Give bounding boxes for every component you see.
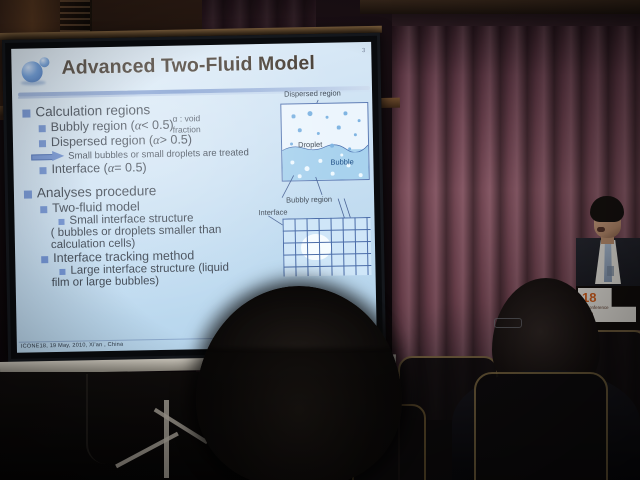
ceiling-valance	[360, 0, 640, 14]
bubble-dot	[304, 166, 309, 171]
slide-body: Calculation regions Bubbly region ( α < …	[22, 100, 266, 290]
grid-line-v	[294, 218, 296, 276]
droplet-dot	[343, 111, 347, 115]
droplet-dot	[348, 147, 351, 150]
droplet-dot	[354, 133, 357, 136]
droplet-dot	[290, 142, 293, 145]
slide-number: 3	[362, 48, 365, 54]
bullet-square-icon	[39, 125, 46, 132]
bubble-dot	[318, 159, 322, 163]
note-line-1: α : void	[172, 113, 200, 125]
grid-line-v	[354, 217, 356, 275]
droplet-dot	[358, 119, 361, 122]
bullet-text: Interface (	[51, 161, 108, 176]
logo-small-bubble	[39, 57, 49, 67]
grid-line-v	[282, 219, 284, 277]
void-fraction-note: α : void fraction	[172, 113, 200, 136]
bubble-dot	[340, 153, 343, 156]
droplet-dot	[291, 114, 295, 118]
bullet-square-icon	[58, 219, 64, 225]
hanging-cable	[86, 374, 118, 464]
arrow-head	[52, 151, 64, 161]
grid-line-v	[366, 217, 368, 275]
eyeglasses	[494, 318, 522, 328]
grid-line-h	[283, 265, 371, 268]
bullet-square-icon	[59, 269, 65, 275]
bullet-text: Calculation regions	[35, 102, 150, 119]
droplet-dot	[317, 132, 320, 135]
bullet-text: Dispersed region (	[51, 133, 153, 149]
label-bubble: Bubble	[330, 157, 354, 166]
droplet-dot	[326, 116, 329, 119]
slide-title: Advanced Two-Fluid Model	[61, 52, 315, 80]
droplet-dot	[337, 126, 341, 130]
label-bubbly-region: Bubbly region	[286, 195, 332, 205]
presenter-tie	[604, 244, 612, 282]
bullet-square-icon	[24, 191, 32, 199]
droplet-dot	[307, 111, 312, 116]
logo-reflection	[21, 80, 46, 85]
bullet-text-tail: < 0.5)	[141, 118, 174, 133]
grid-line-v	[342, 217, 344, 275]
bullet-square-icon	[22, 110, 30, 118]
grid-line-h	[283, 229, 371, 232]
droplet-dot	[330, 144, 334, 148]
note-line-2: fraction	[173, 124, 201, 136]
presenter-badge	[607, 266, 614, 276]
hair-outline	[190, 278, 408, 348]
bullet-text: Analyses procedure	[37, 183, 157, 200]
calculation-cell-grid	[282, 217, 371, 277]
grid-line-v	[330, 218, 332, 276]
bubble-logo	[19, 56, 54, 87]
foreground-head-silhouette	[196, 286, 402, 480]
dispersed-bubbly-box: Droplet Bubble	[280, 102, 369, 182]
bullet-text-tail: = 0.5)	[114, 160, 147, 175]
bullet-text: Bubbly region (	[51, 118, 135, 134]
right-arrow-icon	[31, 151, 65, 163]
bullet-square-icon	[40, 206, 47, 213]
bullet-square-icon	[39, 167, 46, 174]
label-droplet: Droplet	[298, 140, 322, 149]
interface-wave	[282, 142, 368, 154]
large-bubble-shape	[301, 234, 331, 261]
conference-room-photo: Advanced Two-Fluid Model 3 Calculation r…	[0, 0, 640, 480]
presenter-mouth	[597, 227, 605, 232]
presenter-hair	[590, 196, 624, 222]
banquet-chair	[474, 372, 608, 480]
droplet-dot	[298, 128, 302, 132]
bullet-square-icon	[39, 140, 46, 147]
bullet-square-icon	[41, 256, 48, 263]
bubble-dot	[290, 160, 294, 164]
arrow-stem	[31, 154, 54, 160]
slide-footer: ICONE18, 19 May, 2010, Xi'an , China	[21, 342, 123, 350]
